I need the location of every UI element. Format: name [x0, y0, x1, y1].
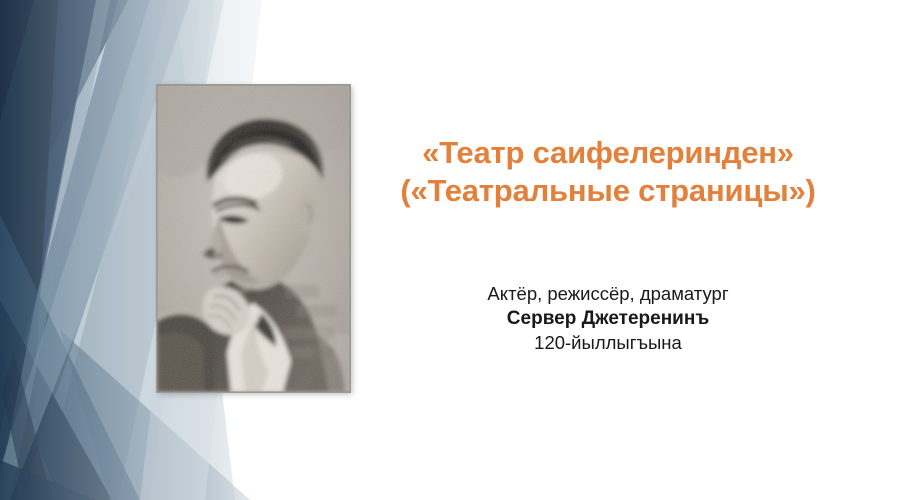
- title-slide: «Театр саифелеринден» («Театральные стра…: [0, 0, 900, 500]
- title-line-1: «Театр саифелеринден»: [358, 134, 858, 172]
- slide-title: «Театр саифелеринден» («Театральные стра…: [358, 134, 858, 210]
- subtitle-line-role: Актёр, режиссёр, драматург: [358, 282, 858, 307]
- portrait-photo: [157, 85, 350, 392]
- portrait-photo-image: [157, 85, 350, 392]
- title-line-2: («Театральные страницы»): [358, 172, 858, 210]
- subtitle-line-name: Сервер Джетеренинъ: [358, 307, 858, 332]
- subtitle-line-anniversary: 120-йыллыгъына: [358, 331, 858, 356]
- slide-subtitle: Актёр, режиссёр, драматург Сервер Джетер…: [358, 282, 858, 356]
